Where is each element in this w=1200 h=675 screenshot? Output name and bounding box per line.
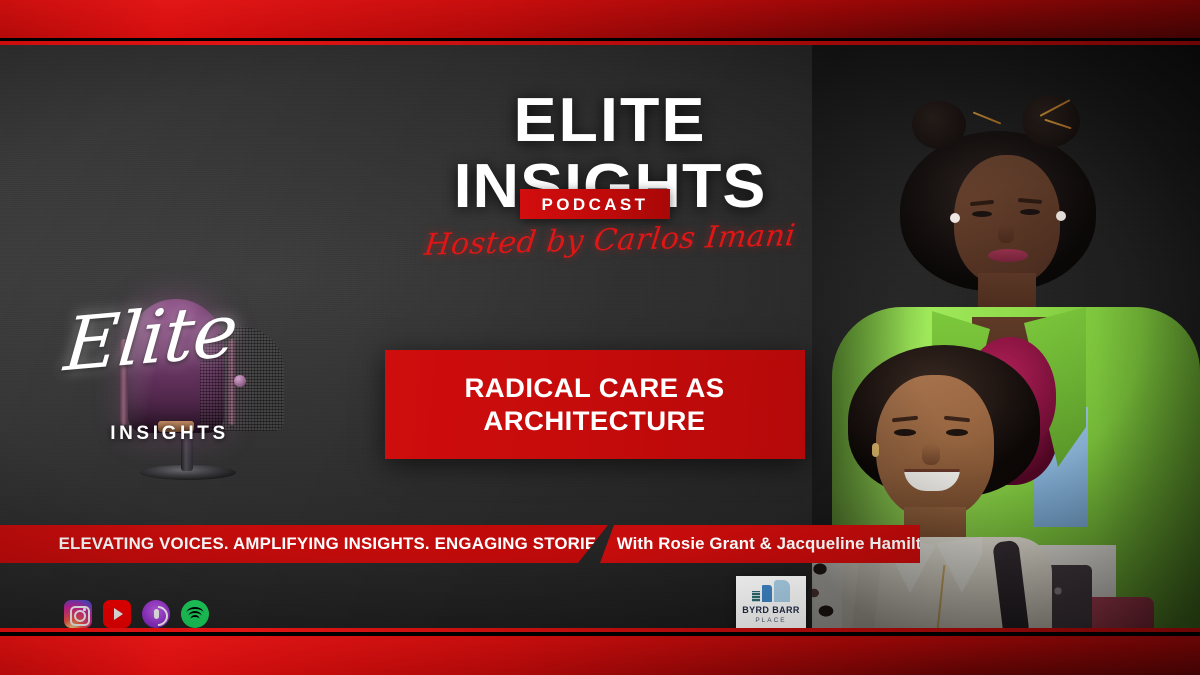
podcast-episode-graphic: Elite INSIGHTS [0, 0, 1200, 675]
stage-vignette [0, 45, 1200, 628]
stage-background: Elite INSIGHTS [0, 45, 1200, 628]
frame-bottom-band-sheen [0, 636, 1200, 675]
frame-top-band-sheen [0, 0, 1200, 38]
